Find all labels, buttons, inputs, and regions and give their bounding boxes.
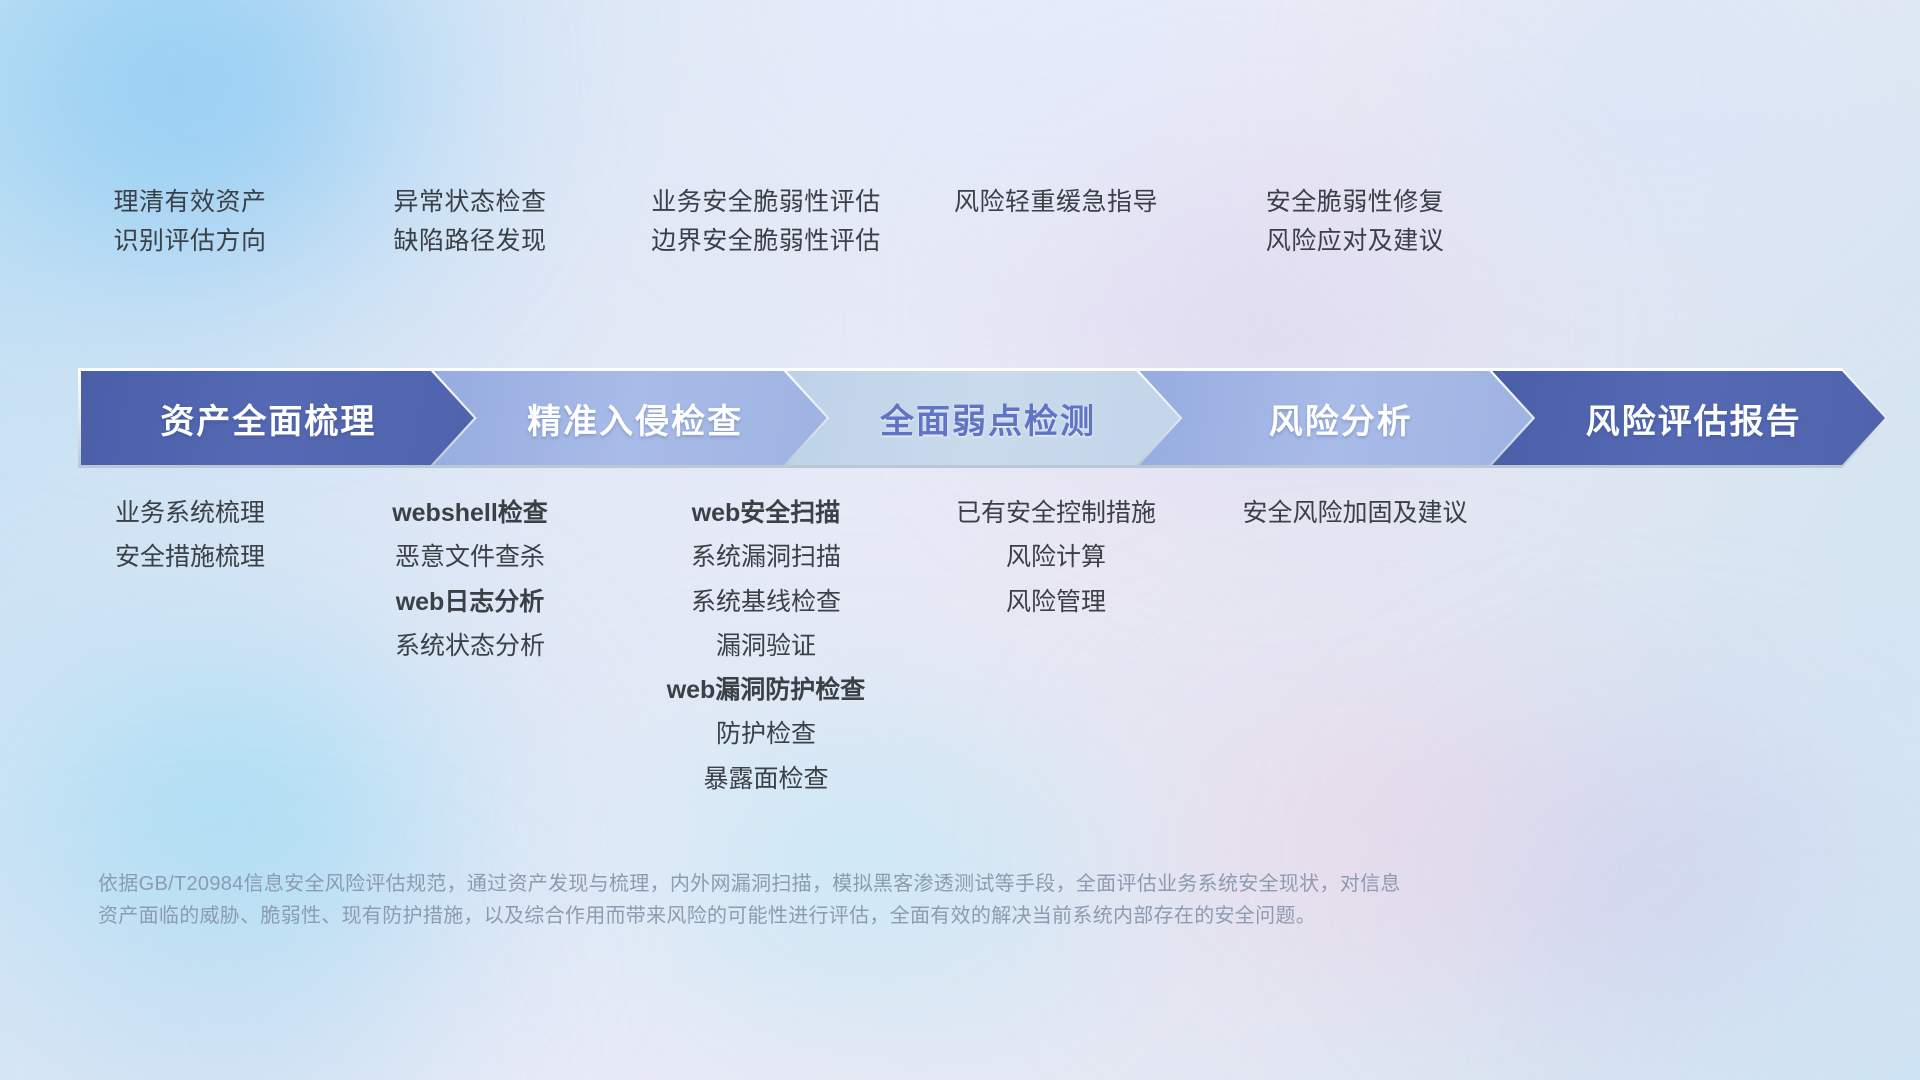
top-annotations-risk-report: 安全脆弱性修复风险应对及建议 [1155, 190, 1555, 254]
chevron-label-weakness-detection: 全面弱点检测 [880, 394, 1096, 443]
chevron-stage-risk-report[interactable]: 风险评估报告 [1489, 368, 1888, 468]
footer-line-2: 资产面临的威胁、脆弱性、现有防护措施，以及综合作用而带来风险的可能性进行评估，全… [98, 900, 1798, 932]
bottom-detail-item: webshell检查 [392, 500, 548, 526]
bottom-detail-item: 业务系统梳理 [115, 500, 265, 526]
bottom-details-risk-report: 安全风险加固及建议 [1155, 500, 1555, 526]
chevron-label-asset-inventory: 资产全面梳理 [160, 394, 376, 443]
bottom-detail-item: web日志分析 [396, 589, 545, 615]
bottom-detail-item: web漏洞防护检查 [667, 677, 866, 703]
top-annotation-item: 边界安全脆弱性评估 [651, 229, 881, 254]
bottom-detail-item: 安全措施梳理 [115, 544, 265, 570]
top-annotation-item: 理清有效资产 [113, 190, 266, 215]
top-annotation-item: 缺陷路径发现 [393, 229, 546, 254]
bottom-detail-item: web安全扫描 [692, 500, 841, 526]
top-annotation-item: 异常状态检查 [393, 190, 546, 215]
top-annotation-item: 风险轻重缓急指导 [954, 190, 1158, 215]
top-annotation-item: 安全脆弱性修复 [1266, 190, 1445, 215]
bottom-detail-item: 系统漏洞扫描 [691, 544, 841, 570]
chevron-label-risk-report: 风险评估报告 [1586, 394, 1802, 443]
bottom-detail-item: 安全风险加固及建议 [1242, 500, 1467, 526]
bottom-detail-item: 防护检查 [716, 721, 816, 747]
process-diagram: 理清有效资产识别评估方向异常状态检查缺陷路径发现业务安全脆弱性评估边界安全脆弱性… [0, 0, 1920, 1080]
footer-line-1: 依据GB/T20984信息安全风险评估规范，通过资产发现与梳理，内外网漏洞扫描，… [98, 868, 1798, 900]
chevron-stage-asset-inventory[interactable]: 资产全面梳理 [78, 368, 477, 468]
bottom-detail-item: 暴露面检查 [703, 766, 828, 792]
chevron-stage-weakness-detection[interactable]: 全面弱点检测 [784, 368, 1183, 468]
chevron-stage-risk-analysis[interactable]: 风险分析 [1136, 368, 1535, 468]
chevron-label-intrusion-check: 精准入侵检查 [527, 394, 743, 443]
top-annotation-item: 识别评估方向 [113, 229, 266, 254]
footer-description: 依据GB/T20984信息安全风险评估规范，通过资产发现与梳理，内外网漏洞扫描，… [98, 868, 1798, 933]
bottom-detail-item: 已有安全控制措施 [956, 500, 1156, 526]
bottom-detail-item: 风险计算 [1006, 544, 1106, 570]
top-annotations-row: 理清有效资产识别评估方向异常状态检查缺陷路径发现业务安全脆弱性评估边界安全脆弱性… [0, 190, 1920, 280]
chevron-stage-intrusion-check[interactable]: 精准入侵检查 [431, 368, 830, 468]
chevron-label-risk-analysis: 风险分析 [1269, 394, 1413, 443]
bottom-detail-item: 系统状态分析 [395, 633, 545, 659]
top-annotation-item: 业务安全脆弱性评估 [651, 190, 881, 215]
top-annotation-item: 风险应对及建议 [1266, 229, 1445, 254]
bottom-detail-item: 系统基线检查 [691, 589, 841, 615]
bottom-detail-item: 漏洞验证 [716, 633, 816, 659]
bottom-detail-item: 恶意文件查杀 [395, 544, 545, 570]
chevron-process-band: 资产全面梳理精准入侵检查全面弱点检测风险分析风险评估报告 [0, 368, 1920, 468]
bottom-detail-item: 风险管理 [1006, 589, 1106, 615]
